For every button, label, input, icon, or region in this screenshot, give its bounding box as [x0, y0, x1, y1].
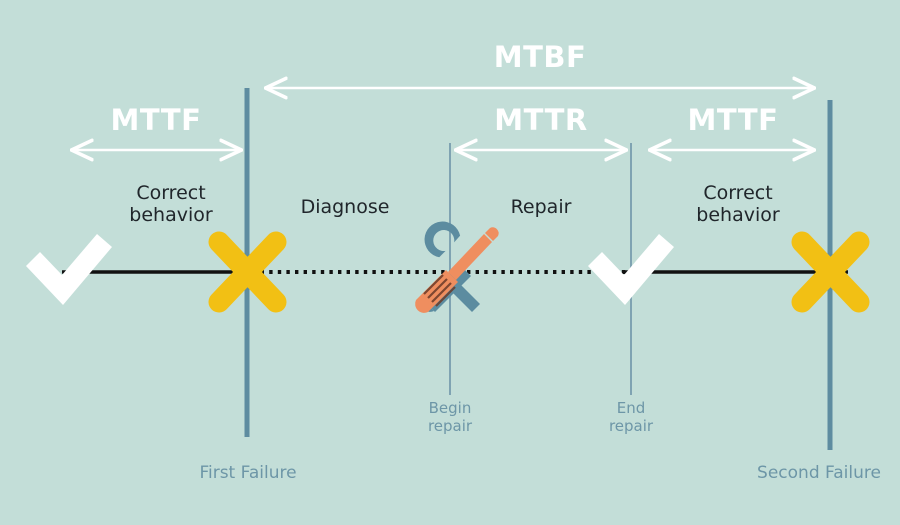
diagram-canvas: MTTF MTBF MTTR MTTF Correct behavior Dia…	[0, 0, 900, 525]
phase-label-diagnose: Diagnose	[245, 196, 445, 218]
metric-label-mtbf: MTBF	[440, 40, 640, 74]
phase-label-correct-behavior-left: Correct behavior	[71, 182, 271, 227]
phase-label-repair: Repair	[441, 196, 641, 218]
phase-label-correct-behavior-right: Correct behavior	[638, 182, 838, 227]
check-icon	[26, 234, 112, 305]
metric-label-mttf-right: MTTF	[633, 103, 833, 137]
event-label-end-repair: End repair	[561, 400, 701, 435]
wrench-screwdriver-icon	[415, 214, 498, 313]
metric-label-mttf-left: MTTF	[56, 103, 256, 137]
failure-label-first: First Failure	[148, 463, 348, 483]
failure-label-second: Second Failure	[719, 463, 900, 483]
diagram-graphics-layer	[0, 0, 900, 525]
event-label-begin-repair: Begin repair	[380, 400, 520, 435]
metric-label-mttr: MTTR	[441, 103, 641, 137]
